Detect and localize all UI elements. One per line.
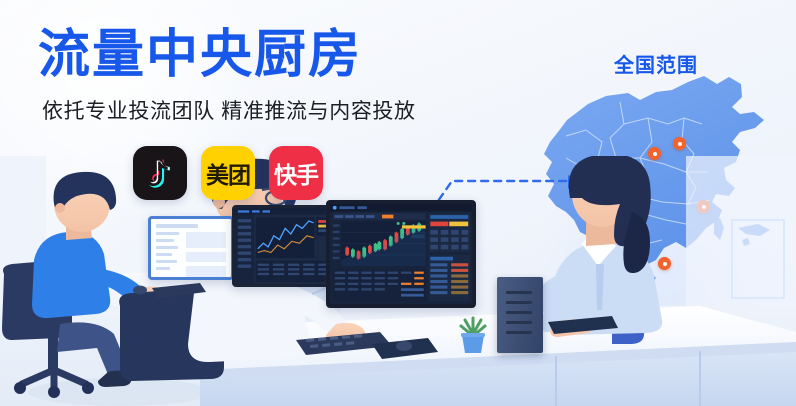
page-title: 流量中央厨房 — [38, 28, 458, 83]
badge-meituan-label: 美团 — [206, 156, 250, 190]
platform-badge-list: 美团 快手 — [133, 146, 323, 200]
map-label: 全国范围 — [614, 49, 698, 78]
wall-panel-right — [686, 156, 796, 306]
monitor-left-screen — [148, 216, 234, 280]
music-note-icon — [145, 157, 175, 189]
desk-plant — [455, 312, 491, 354]
badge-kuaishou-label: 快手 — [274, 156, 318, 190]
map-pin-beijing[interactable] — [673, 137, 686, 150]
monitor-right-screen — [326, 200, 476, 308]
promo-banner: 流量中央厨房 依托专业投流团队 精准推流与内容投放 美团 快手 全国范围 — [0, 0, 796, 406]
plant-pot — [462, 335, 484, 353]
pc-tower — [497, 277, 543, 353]
mouse-secondary — [133, 286, 147, 295]
doc-title-bar — [156, 224, 198, 228]
dash-sidebar — [235, 214, 254, 284]
headline-block: 流量中央厨房 依托专业投流团队 精准推流与内容投放 — [38, 28, 458, 125]
mouse — [396, 341, 412, 351]
worker-right — [534, 156, 663, 344]
monitor-left — [148, 216, 234, 280]
trading-dashboard-graphics — [330, 204, 472, 304]
trading-side-panel-2 — [428, 255, 470, 301]
worker-left-ear — [55, 203, 65, 213]
monitor-right — [326, 200, 476, 308]
doc-content — [186, 232, 226, 280]
progress-bar-red — [430, 222, 448, 227]
badge-kuaishou[interactable]: 快手 — [269, 146, 323, 200]
progress-bar-yellow — [449, 222, 468, 227]
badge-meituan[interactable]: 美团 — [201, 146, 255, 200]
page-subtitle: 依托专业投流团队 精准推流与内容投放 — [42, 95, 458, 125]
badge-douyin[interactable] — [133, 146, 187, 200]
doc-sidebar — [156, 232, 182, 280]
chart-highlight-band — [402, 225, 426, 228]
